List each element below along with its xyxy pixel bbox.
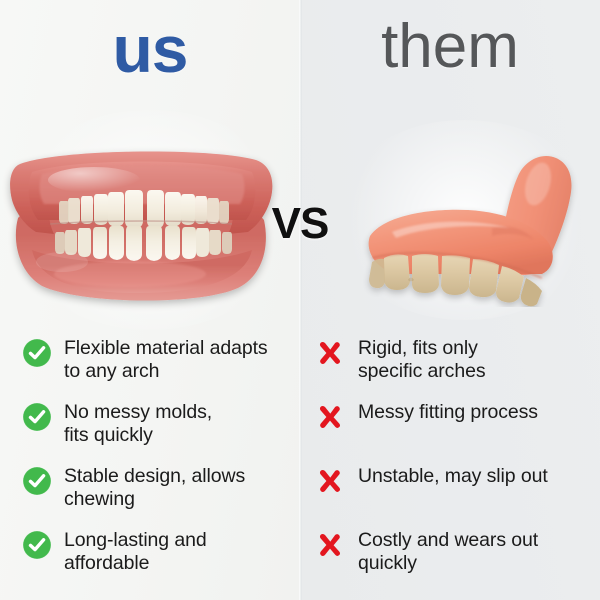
- check-circle-icon: [22, 338, 52, 368]
- list-item-label: Stable design, allows chewing: [64, 464, 245, 511]
- list-item: Costly and wears out quickly: [316, 528, 592, 592]
- check-circle-icon: [22, 530, 52, 560]
- vs-badge: VS: [246, 196, 354, 252]
- cross-x-icon: [316, 531, 344, 559]
- page-title-them: them: [300, 16, 600, 78]
- panel-divider: [299, 0, 302, 600]
- pros-list: Flexible material adapts to any arch No …: [22, 336, 294, 592]
- list-item-label: Unstable, may slip out: [358, 464, 548, 488]
- list-item-label: Rigid, fits only specific arches: [358, 336, 485, 383]
- list-item: No messy molds, fits quickly: [22, 400, 294, 464]
- list-item-label: Flexible material adapts to any arch: [64, 336, 268, 383]
- check-circle-icon: [22, 466, 52, 496]
- list-item: Flexible material adapts to any arch: [22, 336, 294, 400]
- page-title-us: us: [0, 16, 300, 82]
- cross-x-icon: [316, 403, 344, 431]
- list-item-label: Costly and wears out quickly: [358, 528, 538, 575]
- list-item: Unstable, may slip out: [316, 464, 592, 528]
- full-denture-set-image: [2, 122, 282, 312]
- cons-list: Rigid, fits only specific arches Messy f…: [316, 336, 592, 592]
- list-item-label: Messy fitting process: [358, 400, 538, 424]
- cross-x-icon: [316, 467, 344, 495]
- single-arch-denture-image: [352, 132, 592, 307]
- list-item: Stable design, allows chewing: [22, 464, 294, 528]
- check-circle-icon: [22, 402, 52, 432]
- cross-x-icon: [316, 339, 344, 367]
- list-item: Rigid, fits only specific arches: [316, 336, 592, 400]
- list-item-label: No messy molds, fits quickly: [64, 400, 212, 447]
- list-item: Long-lasting and affordable: [22, 528, 294, 592]
- list-item: Messy fitting process: [316, 400, 592, 464]
- list-item-label: Long-lasting and affordable: [64, 528, 207, 575]
- comparison-infographic: us them: [0, 0, 600, 600]
